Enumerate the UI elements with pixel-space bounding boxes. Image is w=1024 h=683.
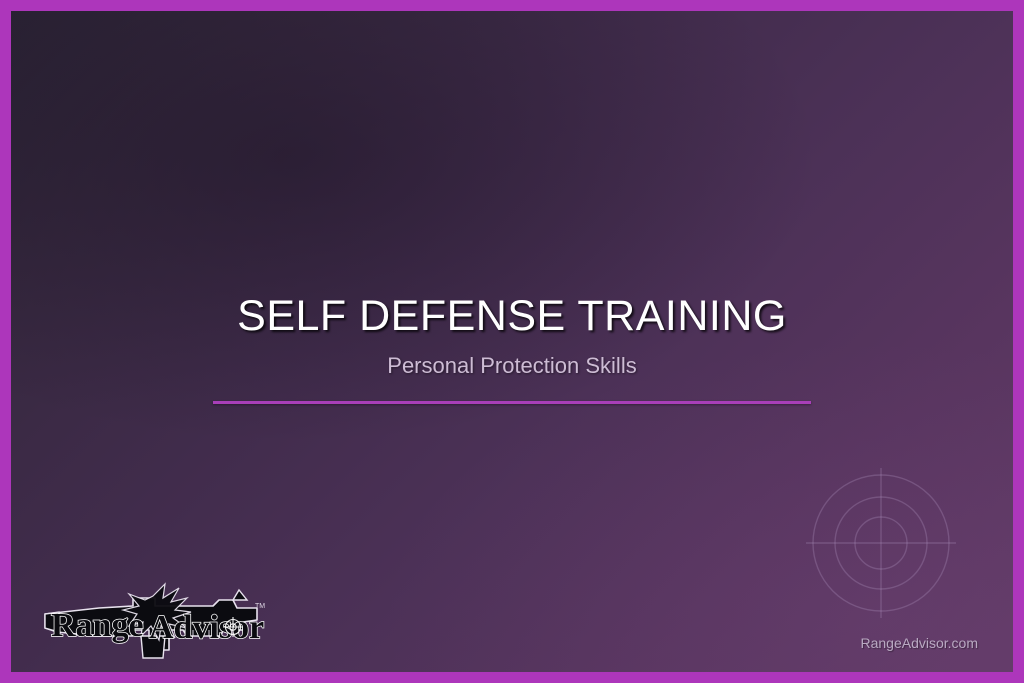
rifle-silhouette-icon: Range Advisor TM [45, 584, 265, 658]
rangeadvisor-logo: Range Advisor TM [37, 578, 265, 662]
logo-wordmark-advisor: Advisor [149, 609, 264, 646]
logo-wordmark-range: Range [51, 607, 144, 644]
site-watermark: RangeAdvisor.com [860, 635, 978, 651]
logo-trademark: TM [255, 603, 265, 610]
presentation-slide: SELF DEFENSE TRAINING Personal Protectio… [0, 0, 1024, 683]
slide-title: SELF DEFENSE TRAINING [11, 294, 1013, 339]
crosshair-target-icon [802, 464, 960, 622]
slide-subtitle: Personal Protection Skills [11, 353, 1013, 379]
title-divider-rule [213, 401, 811, 404]
title-block: SELF DEFENSE TRAINING Personal Protectio… [11, 294, 1013, 404]
